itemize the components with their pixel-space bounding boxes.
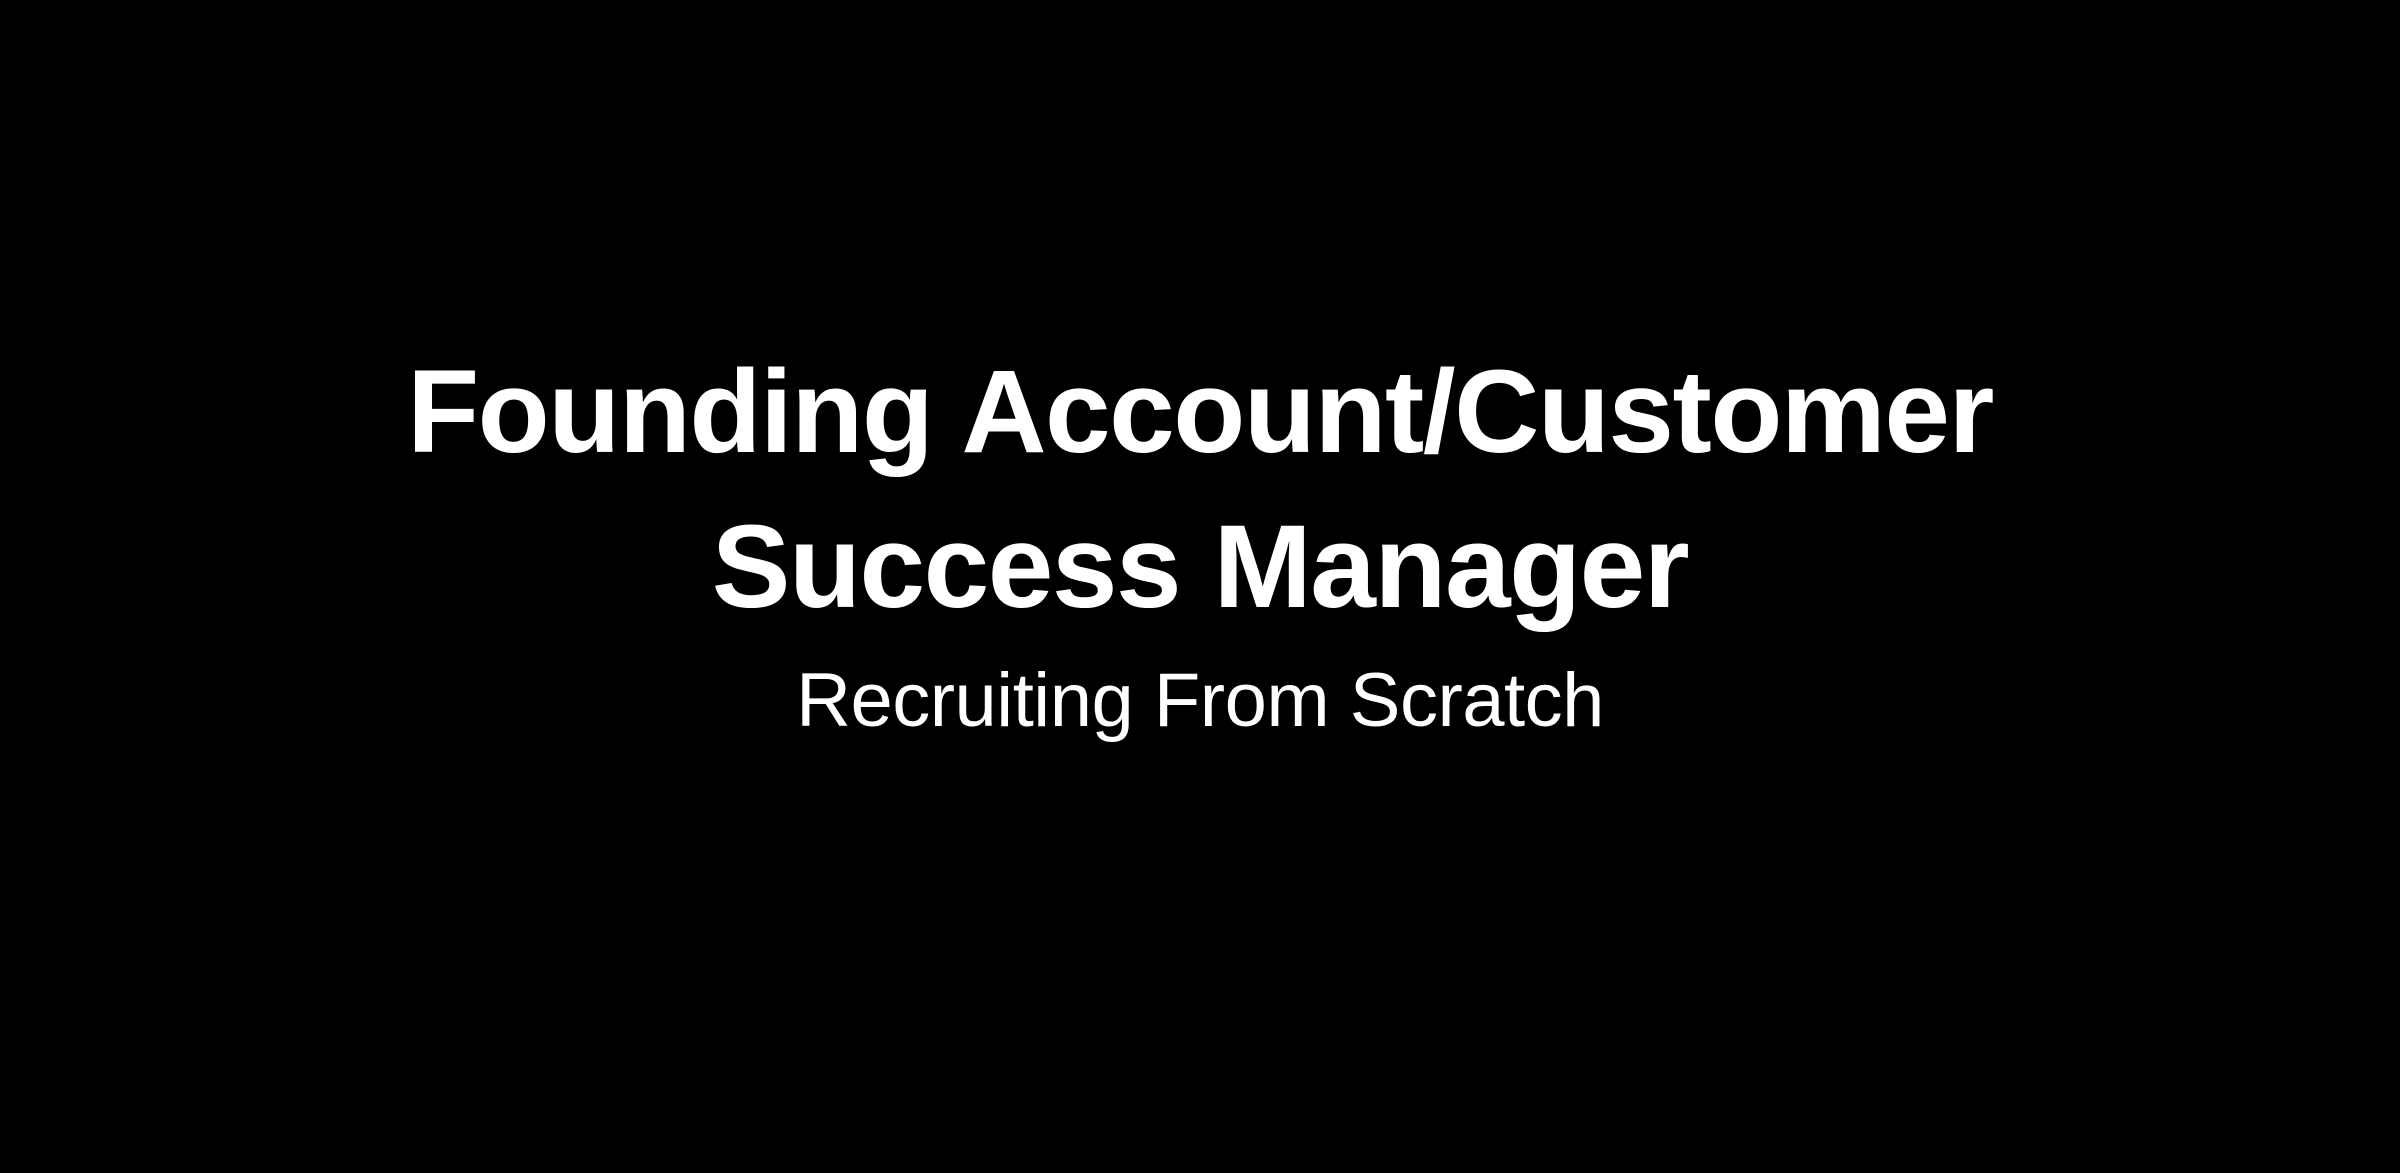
page-title: Founding Account/Customer Success Manage…	[350, 335, 2050, 645]
page-subtitle: Recruiting From Scratch	[796, 653, 1604, 749]
title-slide: Founding Account/Customer Success Manage…	[0, 0, 2400, 1173]
slide-content: Founding Account/Customer Success Manage…	[0, 0, 2400, 1173]
